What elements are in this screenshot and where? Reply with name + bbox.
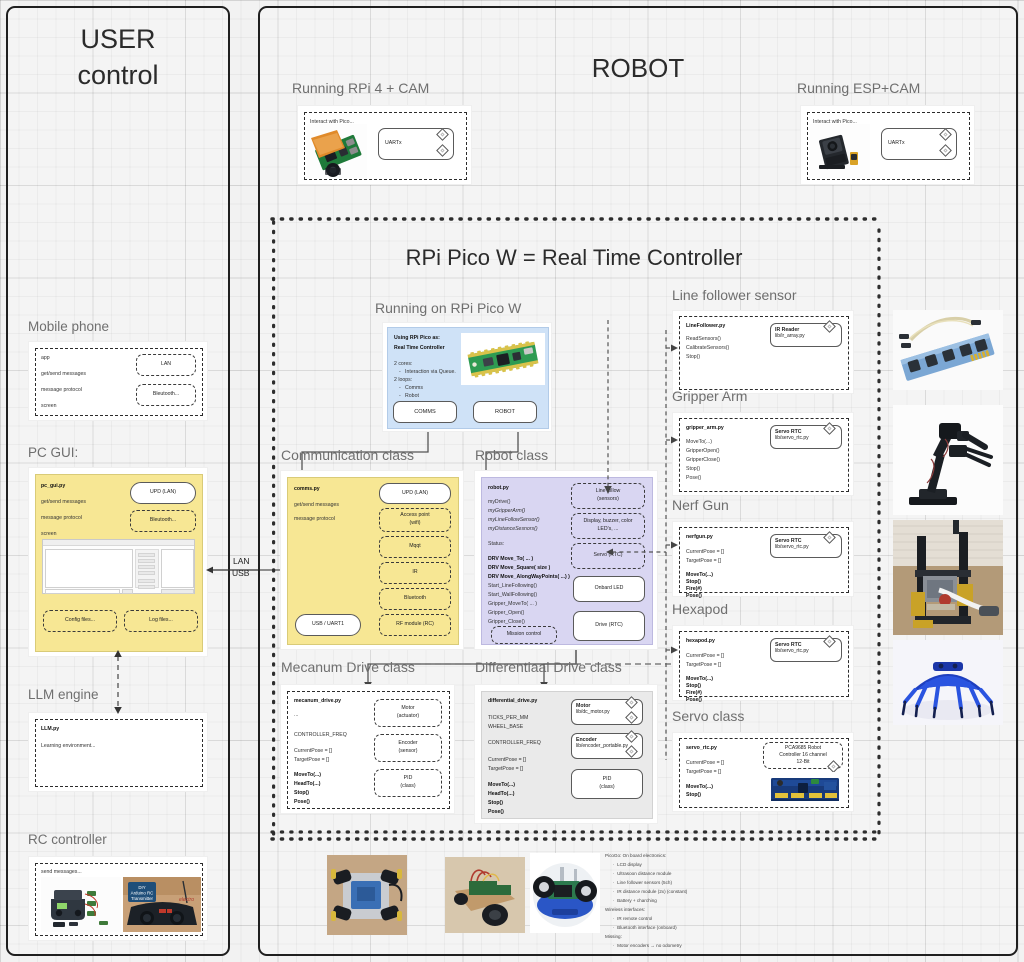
- rpi4-uart-label: UARTx: [385, 140, 402, 148]
- section-heading-running-pico: Running on RPi Pico W: [375, 300, 521, 316]
- section-heading-pc-gui: PC GUI:: [28, 445, 78, 460]
- esp-cam-card: Interact with Pico... UARTx: [800, 105, 975, 185]
- nerf-gun-line-1: TargetPose = []: [686, 557, 721, 566]
- section-heading-line-follower-sensor: Line follower sensor: [672, 287, 797, 303]
- nerf-gun-bold-3: Pose(): [686, 592, 702, 601]
- notes-item-4: · Battery + charching: [613, 897, 657, 904]
- line-follower-line-2: Stop(): [686, 353, 700, 362]
- nerf-gun-lib-path: lib/servo_rtc.py: [775, 544, 837, 550]
- servo-class-card: servo_rtc.py CurrentPose = [] TargetPose…: [672, 732, 854, 812]
- hexapod-filename: hexapod.py: [686, 637, 715, 646]
- mecanum-bold-1: HeadTo(...): [294, 780, 320, 789]
- section-heading-robot-class: Robot class: [475, 447, 548, 463]
- mecanum-line-currentpose: CurrentPose = []: [294, 747, 332, 756]
- mobile-line-messages: get/send messages: [41, 370, 86, 379]
- robot-method-2: Gripper_MoveTo( ... ): [488, 600, 537, 609]
- differential-const-0: TICKS_PER_MM: [488, 714, 528, 723]
- pc-gui-screenshot-mock: [42, 539, 195, 594]
- differential-filename: differential_drive.py: [488, 697, 537, 706]
- line-follower-lib-path: lib/ir_array.py: [775, 333, 837, 339]
- rpi4-cam-card: Interact with Pico... UARTx: [297, 105, 472, 185]
- nerf-gun-rig-photo: [893, 520, 1003, 635]
- mecanum-bold-3: Pose(): [294, 798, 310, 807]
- section-heading-nerf-gun: Nerf Gun: [672, 497, 729, 513]
- svg-text:Transmitter: Transmitter: [131, 896, 154, 901]
- mecanum-chip-pid[interactable]: PID (class): [374, 769, 442, 797]
- connector-line-follow-down: [600, 320, 614, 490]
- comms-line-messages: get/send messages: [294, 501, 339, 510]
- line-follower-line-1: CalibrateSensors(): [686, 344, 729, 353]
- svg-text:DIY: DIY: [138, 885, 145, 890]
- gripper-arm-lib-path: lib/servo_rtc.py: [775, 435, 837, 441]
- svg-text:electro: electro: [179, 897, 194, 903]
- gripper-arm-photo: [893, 405, 1003, 515]
- diy-differential-robot-photo: [445, 857, 525, 933]
- pico-title-l2: Real Time Controller: [394, 344, 445, 353]
- llm-card: LLM.py Learning environment...: [28, 712, 208, 792]
- robot-member-3: myDistanceSesnors(): [488, 525, 538, 534]
- notes-wireless-title: Wireless interfaces:: [605, 906, 645, 913]
- differential-chip-pid[interactable]: PID (class): [571, 769, 643, 799]
- pico-controller-title: RPi Pico W = Real Time Controller: [272, 245, 876, 271]
- differential-bold-2: Stop(): [488, 799, 503, 808]
- mobile-line-app: app: [41, 354, 50, 363]
- notes-missing-0: · Motor encoders → no odometry: [613, 942, 682, 949]
- pico-button-comms[interactable]: COMMS: [393, 401, 457, 423]
- drive-group-dashed-outline: [395, 660, 675, 678]
- robot-bold-method-0: DRV Move_To( ... ): [488, 555, 533, 564]
- differential-bold-1: HeadTo(...): [488, 790, 514, 799]
- comms-chip-bluetooth[interactable]: Bluetooth: [379, 588, 451, 610]
- comms-card: comms.py get/send messages message proto…: [280, 470, 464, 650]
- rpi4-board-photo: [307, 124, 367, 178]
- hexapod-line-1: TargetPose = []: [686, 661, 721, 670]
- llm-line-learning: Learning environment...: [41, 742, 96, 751]
- mobile-phone-card: app get/send messages message protocol s…: [28, 341, 208, 421]
- esp-uart-label: UARTx: [888, 140, 905, 148]
- line-follower-module-photo: [893, 310, 1003, 390]
- pc-gui-card: pc_gui.py get/send messages message prot…: [28, 467, 208, 657]
- section-heading-gripper-arm: Gripper Arm: [672, 388, 747, 404]
- section-heading-esp-cam: Running ESP+CAM: [797, 80, 920, 96]
- robot-chip-mission-control[interactable]: Mission control: [491, 626, 557, 644]
- section-heading-servo-class: Servo class: [672, 708, 744, 724]
- servo-class-filename: servo_rtc.py: [686, 744, 717, 753]
- diy-rc-transmitter-photo: DIY Arduino RC Transmitter electro: [123, 877, 201, 932]
- mecanum-line-controller-freq: CONTROLLER_FREQ: [294, 731, 347, 740]
- comms-chip-access-point[interactable]: Access point (wifi): [379, 508, 451, 532]
- hexapod-line-0: CurrentPose = []: [686, 652, 724, 661]
- gripper-arm-line-0: MoveTo(...): [686, 438, 712, 447]
- gripper-arm-filename: gripper_arm.py: [686, 424, 724, 433]
- servo-class-bold-1: Stop(): [686, 791, 701, 800]
- picogo-robot-photo: [530, 853, 600, 933]
- section-heading-rc-controller: RC controller: [28, 832, 107, 847]
- pico-button-robot[interactable]: ROBOT: [473, 401, 537, 423]
- gripper-arm-card: gripper_arm.py MoveTo(...) GripperOpen()…: [672, 412, 854, 496]
- mecanum-chip-encoder[interactable]: Encoder (sensor): [374, 734, 442, 762]
- notes-item-0: · LCD display: [613, 861, 642, 868]
- nerf-gun-filename: nerfgun.py: [686, 533, 713, 542]
- mobile-line-protocol: message protocol: [41, 386, 82, 395]
- link-pcgui-llm: [110, 650, 132, 720]
- differential-bold-0: MoveTo(...): [488, 781, 515, 790]
- llm-inner: [35, 719, 203, 787]
- comms-chip-ir[interactable]: IR: [379, 562, 451, 584]
- pico-title-l1: Using RPi Pico as:: [394, 334, 440, 343]
- pc-gui-line-messages: get/send messages: [41, 498, 86, 507]
- line-follower-card: LineFollower.py ReadSensors() CalibrateS…: [672, 310, 854, 394]
- robot-method-1: Start_WallFollowing(): [488, 591, 537, 600]
- nerf-gun-card: nerfgun.py CurrentPose = [] TargetPose =…: [672, 521, 854, 597]
- gripper-arm-line-1: GripperOpen(): [686, 447, 719, 456]
- section-heading-communication-class: Communication class: [281, 447, 414, 463]
- notes-item-2: · Line follower sensors (5ch): [613, 879, 672, 886]
- pc-gui-line-protocol: message protocol: [41, 514, 82, 523]
- notes-item-1: · Ultrasoon distance module: [613, 870, 671, 877]
- line-follower-line-0: ReadSensors(): [686, 335, 721, 344]
- robot-member-2: myLineFollowSensor(): [488, 516, 540, 525]
- robot-bold-method-1: DRV Move_Square( size ): [488, 564, 550, 573]
- mecanum-bold-0: MoveTo(...): [294, 771, 321, 780]
- comms-chip-usb-uart[interactable]: USB / UART1: [295, 614, 361, 636]
- mecanum-chip-motor[interactable]: Motor (actuator): [374, 699, 442, 727]
- mecanum-robot-photo: [327, 855, 407, 935]
- pc-gui-chip-udp[interactable]: UPD (LAN): [130, 482, 196, 504]
- photo-column-divider: [876, 230, 882, 834]
- divider-bottom-dotted: [272, 836, 876, 842]
- esp-cam-board-photo: [810, 124, 870, 178]
- pico-card: Using RPi Pico as: Real Time Controller …: [382, 322, 552, 432]
- robot-member-0: myDrive(): [488, 498, 510, 507]
- mecanum-line-targetpose: TargetPose = []: [294, 756, 329, 765]
- servo-class-line-1: TargetPose = []: [686, 768, 721, 777]
- differential-const-1: WHEEL_BASE: [488, 723, 523, 732]
- mobile-chip-bluetooth[interactable]: Bleutooth...: [136, 384, 196, 406]
- comms-filename: comms.py: [294, 485, 320, 494]
- mecanum-line-ellipsis: ...: [294, 711, 298, 720]
- hexapod-card: hexapod.py CurrentPose = [] TargetPose =…: [672, 625, 854, 701]
- differential-freq: CONTROLLER_FREQ: [488, 739, 541, 748]
- robot-method-0: Start_LineFollowing(): [488, 582, 537, 591]
- robot-bold-method-2: DRV Move_AlongWayPoints( ...) ): [488, 573, 570, 582]
- svg-text:Arduino RC: Arduino RC: [131, 891, 154, 896]
- notes-wireless-1: · Bluetooth interface (onboard): [613, 924, 677, 931]
- mecanum-card: mecanum_drive.py ... CONTROLLER_FREQ Cur…: [280, 684, 455, 814]
- section-heading-rpi4-cam: Running RPi 4 + CAM: [292, 80, 429, 96]
- section-heading-mobile-phone: Mobile phone: [28, 319, 109, 334]
- mobile-chip-lan[interactable]: LAN: [136, 354, 196, 376]
- gripper-arm-line-2: GripperClose(): [686, 456, 720, 465]
- section-heading-llm-engine: LLM engine: [28, 687, 99, 702]
- nerf-gun-line-0: CurrentPose = []: [686, 548, 724, 557]
- pico-bullet-4: - Robot: [399, 392, 419, 401]
- comms-chip-rf-module[interactable]: RF module (RC): [379, 614, 451, 636]
- servo-class-line-0: CurrentPose = []: [686, 759, 724, 768]
- mecanum-bold-2: Stop(): [294, 789, 309, 798]
- hexapod-lib-path: lib/servo_rtc.py: [775, 648, 837, 654]
- line-follower-filename: LineFollower.py: [686, 322, 725, 331]
- pc-gui-line-screen: screen: [41, 530, 57, 539]
- user-control-title-line1: USER: [8, 24, 228, 55]
- notes-title: PicoGo: On board electronics:: [605, 852, 666, 859]
- robot-status-label: Status:: [488, 540, 504, 549]
- comms-line-protocol: message protocol: [294, 515, 335, 524]
- robot-method-3: Gripper_Open(): [488, 609, 524, 618]
- pc-gui-chip-bluetooth[interactable]: Bleutooth...: [130, 510, 196, 532]
- hexapod-bold-3: Pose(): [686, 696, 702, 705]
- pico-board-photo: [461, 333, 545, 385]
- gripper-arm-line-3: Stop(): [686, 465, 700, 474]
- robot-filename: robot.py: [488, 484, 509, 493]
- notes-missing-title: Missing:: [605, 933, 622, 940]
- user-control-title-line2: control: [8, 60, 228, 91]
- pc-gui-filename: pc_gui.py: [41, 482, 65, 491]
- rc-line-send-messages: send messages...: [41, 868, 82, 877]
- mecanum-filename: mecanum_drive.py: [294, 697, 341, 706]
- notes-item-3: · IR distance module (2x) (constant): [613, 888, 687, 895]
- rc-transmitter-photo: [41, 877, 121, 932]
- pc-gui-chip-config-files[interactable]: Config files...: [43, 610, 117, 632]
- section-heading-hexapod: Hexapod: [672, 601, 728, 617]
- differential-targetpose: TargetPose = []: [488, 765, 523, 774]
- notes-wireless-0: · IR remote control: [613, 915, 652, 922]
- differential-currentpose: CurrentPose = []: [488, 756, 526, 765]
- gripper-arm-line-4: Pose(): [686, 474, 701, 483]
- pc-gui-chip-log-files[interactable]: Log files...: [124, 610, 198, 632]
- comms-chip-udp[interactable]: UPD (LAN): [379, 483, 451, 504]
- robot-member-1: myGripperArm(): [488, 507, 525, 516]
- differential-bold-3: Pose(): [488, 808, 504, 817]
- pca9685-board-photo: [767, 772, 843, 806]
- llm-filename: LLM.py: [41, 725, 59, 734]
- rc-controller-card: send messages...: [28, 856, 208, 941]
- hexapod-photo: [893, 640, 1003, 725]
- comms-chip-mqtt[interactable]: Mqqt: [379, 536, 451, 558]
- mobile-line-screen: screen: [41, 402, 57, 411]
